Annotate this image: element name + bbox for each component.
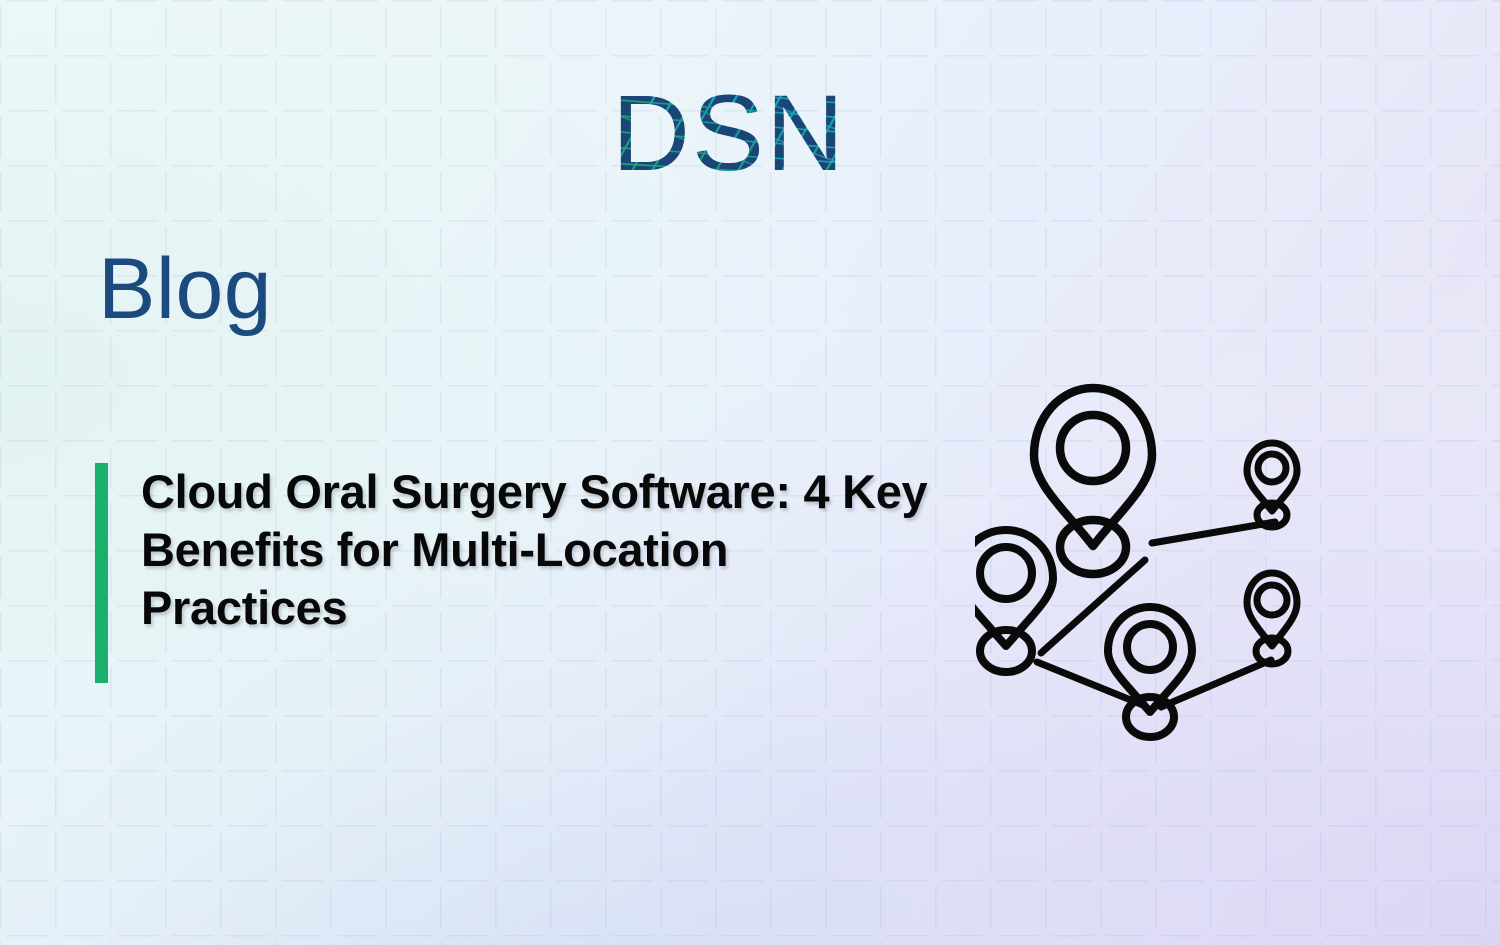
map-pin-right-lower xyxy=(1247,573,1297,664)
svg-text:DSN: DSN xyxy=(612,76,846,193)
section-label-blog: Blog xyxy=(98,243,272,336)
dsn-logo[interactable]: DSN xyxy=(612,76,902,196)
map-pin-top-center xyxy=(1034,388,1152,574)
pin-connector-lines xyxy=(1037,522,1275,707)
page-title: Cloud Oral Surgery Software: 4 Key Benef… xyxy=(108,463,931,683)
post-title-block: Cloud Oral Surgery Software: 4 Key Benef… xyxy=(95,463,931,683)
accent-bar xyxy=(95,463,108,683)
map-pin-right-upper xyxy=(1247,443,1297,527)
dsn-logo-letters: DSN xyxy=(612,76,846,193)
blog-banner: DSN Blog Cloud Oral Surgery Software: 4 … xyxy=(0,0,1500,945)
map-pin-bottom-center xyxy=(1108,607,1192,737)
multi-location-pin-network-illustration xyxy=(975,370,1320,745)
